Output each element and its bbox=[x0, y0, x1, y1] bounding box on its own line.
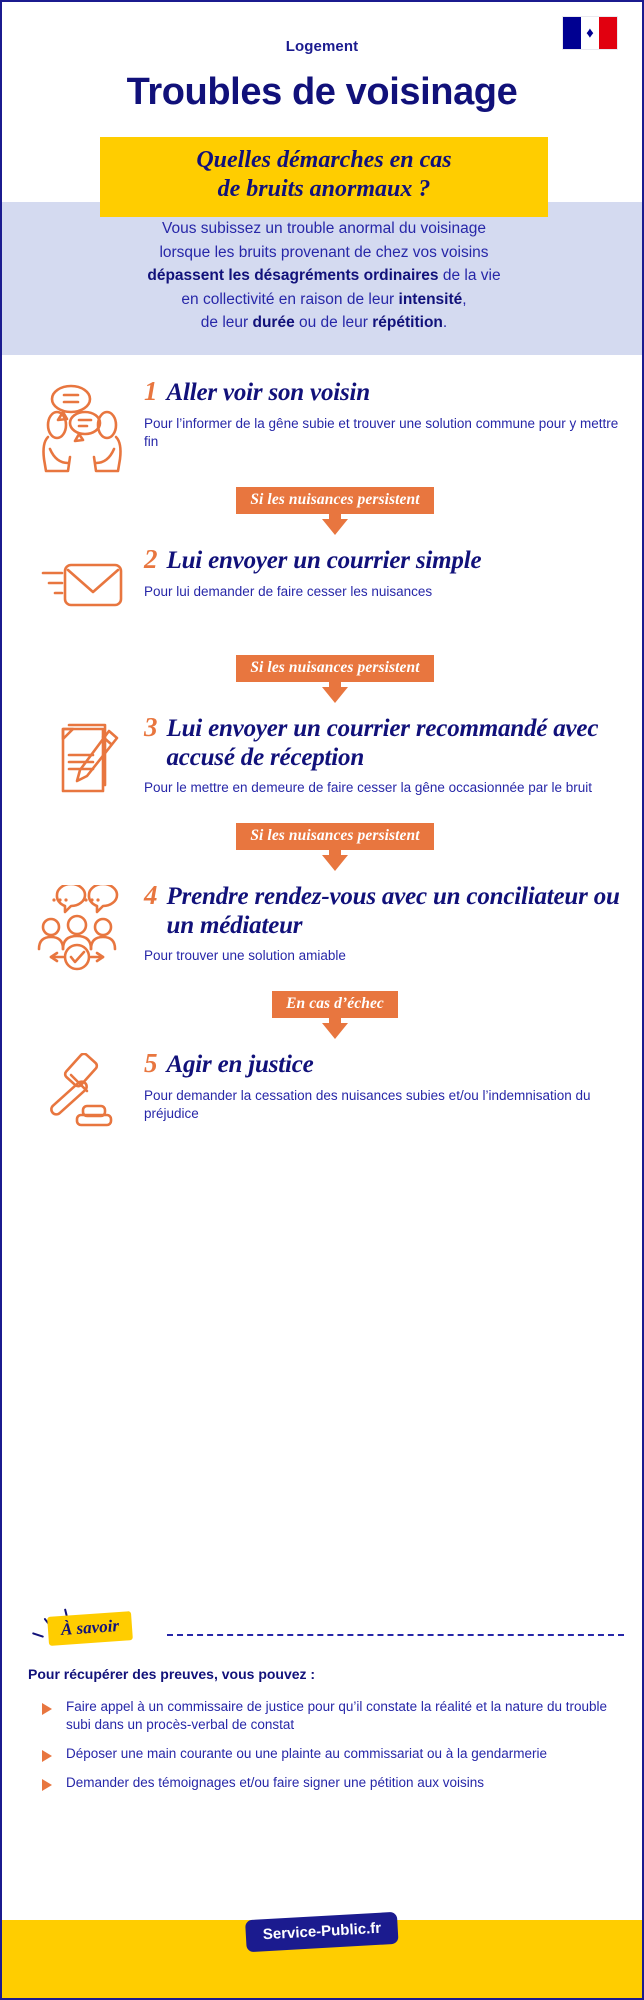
step-2-number: 2 bbox=[144, 545, 158, 575]
intro-line-5-bold-1: durée bbox=[252, 314, 294, 331]
connector-1-label: Si les nuisances persistent bbox=[236, 487, 433, 514]
step-4-number: 4 bbox=[144, 881, 158, 911]
steps-list: 1 Aller voir son voisin Pour l’informer … bbox=[2, 377, 644, 1145]
intro-line-5-bold-2: répétition bbox=[372, 314, 443, 331]
list-item: Faire appel à un commissaire de justice … bbox=[42, 1698, 622, 1734]
step-3: 3 Lui envoyer un courrier recommandé ave… bbox=[2, 713, 644, 809]
step-3-body: 3 Lui envoyer un courrier recommandé ave… bbox=[138, 713, 624, 797]
intro-line-4-post: , bbox=[462, 291, 466, 308]
envelope-icon bbox=[28, 545, 138, 641]
step-3-number: 3 bbox=[144, 713, 158, 743]
intro-line-5-pre: de leur bbox=[201, 314, 253, 331]
intro-line-3: dépassent les désagréments ordinaires de… bbox=[2, 264, 644, 288]
intro-line-2: lorsque les bruits provenant de chez vos… bbox=[2, 241, 644, 265]
good-to-know-bullet-list: Faire appel à un commissaire de justice … bbox=[2, 1682, 644, 1792]
step-4-description: Pour trouver une solution amiable bbox=[144, 947, 624, 965]
connector-1-arrow-icon bbox=[322, 519, 348, 535]
infographic-page: ♦ Logement Troubles de voisinage Quelles… bbox=[0, 0, 644, 2000]
list-item: Demander des témoignages et/ou faire sig… bbox=[42, 1774, 622, 1792]
step-2: 2 Lui envoyer un courrier simple Pour lu… bbox=[2, 545, 644, 641]
connector-1: Si les nuisances persistent bbox=[2, 487, 644, 535]
two-people-talking-icon bbox=[28, 377, 138, 473]
question-banner-line-2: de bruits anormaux ? bbox=[110, 175, 538, 204]
step-4: 4 Prendre rendez-vous avec un conciliate… bbox=[2, 881, 644, 977]
intro-line-4-pre: en collectivité en raison de leur bbox=[181, 291, 398, 308]
intro-line-5-mid: ou de leur bbox=[295, 314, 373, 331]
triangle-bullet-icon bbox=[42, 1703, 52, 1715]
intro-line-4: en collectivité en raison de leur intens… bbox=[2, 288, 644, 312]
intro-line-3-bold: dépassent les désagréments ordinaires bbox=[147, 267, 438, 284]
step-2-title: Lui envoyer un courrier simple bbox=[167, 547, 482, 576]
good-to-know-header: À savoir bbox=[2, 1602, 644, 1660]
step-5: 5 Agir en justice Pour demander la cessa… bbox=[2, 1049, 644, 1145]
step-3-heading: 3 Lui envoyer un courrier recommandé ave… bbox=[144, 713, 624, 772]
connector-3: Si les nuisances persistent bbox=[2, 823, 644, 871]
french-republic-flag-logo: ♦ bbox=[562, 16, 618, 50]
list-item: Déposer une main courante ou une plainte… bbox=[42, 1745, 622, 1763]
good-to-know-section: À savoir Pour récupérer des preuves, vou… bbox=[2, 1602, 644, 1803]
good-to-know-chip: À savoir bbox=[47, 1611, 133, 1646]
step-5-description: Pour demander la cessation des nuisances… bbox=[144, 1087, 624, 1123]
intro-line-3-rest: de la vie bbox=[439, 267, 501, 284]
connector-3-label: Si les nuisances persistent bbox=[236, 823, 433, 850]
step-3-description: Pour le mettre en demeure de faire cesse… bbox=[144, 779, 624, 797]
connector-4-label: En cas d’échec bbox=[272, 991, 398, 1018]
step-5-heading: 5 Agir en justice bbox=[144, 1049, 624, 1080]
marianne-silhouette-icon: ♦ bbox=[586, 26, 594, 41]
connector-3-arrow-icon bbox=[322, 855, 348, 871]
connector-4-arrow-icon bbox=[322, 1023, 348, 1039]
mediation-group-icon bbox=[28, 881, 138, 977]
step-4-heading: 4 Prendre rendez-vous avec un conciliate… bbox=[144, 881, 624, 940]
connector-2: Si les nuisances persistent bbox=[2, 655, 644, 703]
step-1-title: Aller voir son voisin bbox=[167, 379, 370, 408]
intro-line-4-bold: intensité bbox=[399, 291, 463, 308]
step-3-title: Lui envoyer un courrier recommandé avec … bbox=[167, 715, 625, 772]
triangle-bullet-icon bbox=[42, 1750, 52, 1762]
intro-paragraph: Vous subissez un trouble anormal du vois… bbox=[2, 217, 644, 335]
step-1-heading: 1 Aller voir son voisin bbox=[144, 377, 624, 408]
step-1-description: Pour l’informer de la gêne subie et trou… bbox=[144, 415, 624, 451]
sparkle-line-icon-1 bbox=[32, 1632, 44, 1638]
good-to-know-title: Pour récupérer des preuves, vous pouvez … bbox=[2, 1660, 644, 1682]
category-kicker: Logement bbox=[2, 2, 642, 55]
intro-line-1: Vous subissez un trouble anormal du vois… bbox=[2, 217, 644, 241]
step-5-body: 5 Agir en justice Pour demander la cessa… bbox=[138, 1049, 624, 1123]
step-4-body: 4 Prendre rendez-vous avec un conciliate… bbox=[138, 881, 624, 965]
step-1-body: 1 Aller voir son voisin Pour l’informer … bbox=[138, 377, 624, 451]
step-2-description: Pour lui demander de faire cesser les nu… bbox=[144, 583, 624, 601]
intro-line-5-post: . bbox=[443, 314, 447, 331]
step-2-heading: 2 Lui envoyer un courrier simple bbox=[144, 545, 624, 576]
list-item-text: Déposer une main courante ou une plainte… bbox=[66, 1745, 547, 1763]
step-1: 1 Aller voir son voisin Pour l’informer … bbox=[2, 377, 644, 473]
page-title: Troubles de voisinage bbox=[2, 71, 642, 114]
document-and-pen-icon bbox=[28, 713, 138, 809]
step-1-number: 1 bbox=[144, 377, 158, 407]
triangle-bullet-icon bbox=[42, 1779, 52, 1791]
question-banner: Quelles démarches en cas de bruits anorm… bbox=[100, 137, 548, 217]
question-banner-line-1: Quelles démarches en cas bbox=[110, 146, 538, 175]
connector-2-arrow-icon bbox=[322, 687, 348, 703]
intro-line-5: de leur durée ou de leur répétition. bbox=[2, 311, 644, 335]
list-item-text: Demander des témoignages et/ou faire sig… bbox=[66, 1774, 484, 1792]
connector-4: En cas d’échec bbox=[2, 991, 644, 1039]
step-4-title: Prendre rendez-vous avec un conciliateur… bbox=[167, 883, 625, 940]
list-item-text: Faire appel à un commissaire de justice … bbox=[66, 1698, 622, 1734]
step-5-number: 5 bbox=[144, 1049, 158, 1079]
connector-2-label: Si les nuisances persistent bbox=[236, 655, 433, 682]
step-5-title: Agir en justice bbox=[167, 1051, 314, 1080]
gavel-icon bbox=[28, 1049, 138, 1145]
dashed-divider bbox=[167, 1634, 624, 1636]
step-2-body: 2 Lui envoyer un courrier simple Pour lu… bbox=[138, 545, 624, 601]
